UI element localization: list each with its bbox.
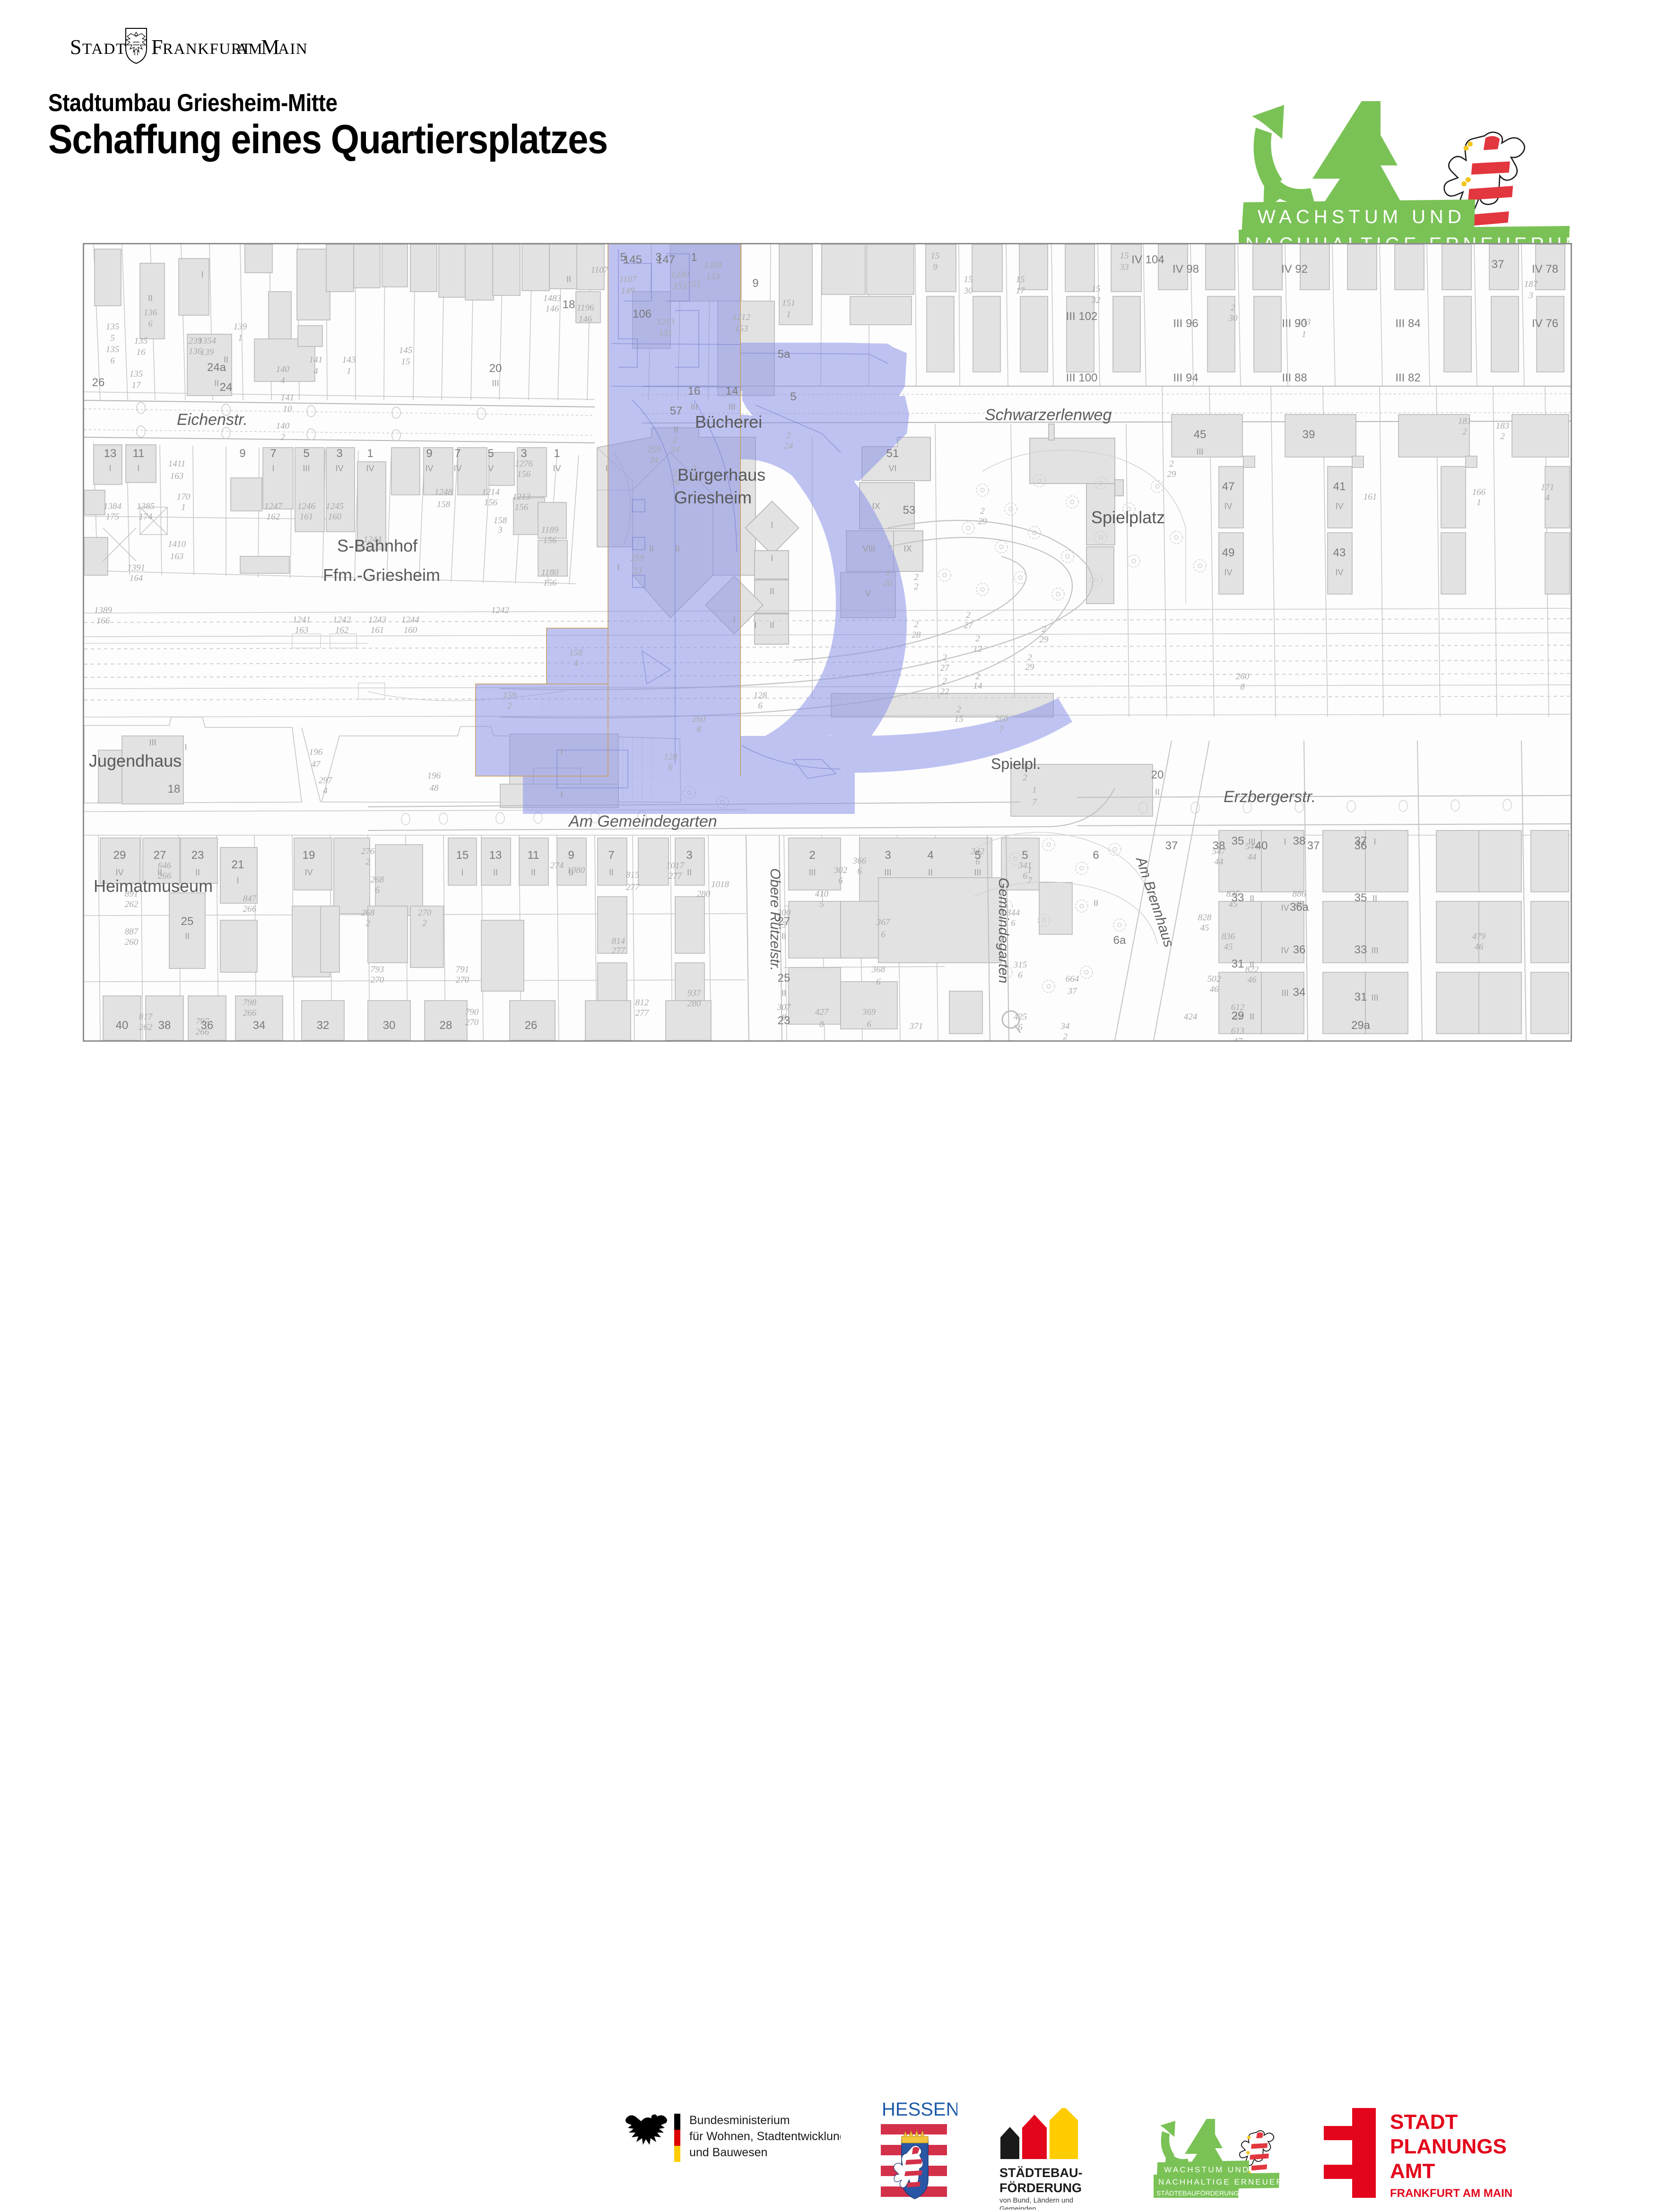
svg-text:IX: IX bbox=[872, 501, 880, 511]
map-canvas: 1366 1355 1356 13516 13517 1354139 1391 … bbox=[84, 244, 1571, 1040]
svg-text:27: 27 bbox=[964, 621, 974, 631]
svg-text:35: 35 bbox=[1355, 891, 1367, 904]
svg-text:I: I bbox=[1284, 837, 1286, 847]
svg-text:1: 1 bbox=[1027, 865, 1032, 875]
svg-text:III: III bbox=[974, 868, 981, 877]
svg-text:II: II bbox=[1155, 787, 1160, 797]
svg-text:160: 160 bbox=[404, 625, 417, 635]
svg-text:7: 7 bbox=[1027, 876, 1033, 886]
svg-text:151: 151 bbox=[687, 279, 701, 289]
svg-text:III 84: III 84 bbox=[1395, 317, 1420, 330]
svg-text:1242: 1242 bbox=[491, 605, 510, 615]
svg-text:7: 7 bbox=[454, 447, 460, 460]
svg-text:153: 153 bbox=[706, 272, 720, 282]
svg-text:266: 266 bbox=[243, 904, 257, 914]
svg-text:371: 371 bbox=[909, 1021, 923, 1031]
svg-text:II: II bbox=[157, 868, 162, 877]
svg-text:664: 664 bbox=[1066, 974, 1079, 984]
svg-text:1213: 1213 bbox=[657, 317, 675, 327]
stadtplanungsamt-line-1: STADT bbox=[1390, 2110, 1458, 2134]
poi-label-heimatmuseum: Heimatmuseum bbox=[94, 876, 213, 896]
svg-text:268: 268 bbox=[371, 875, 384, 885]
svg-text:III 94: III 94 bbox=[1173, 372, 1198, 384]
svg-text:44: 44 bbox=[1215, 857, 1224, 867]
svg-text:46: 46 bbox=[1248, 975, 1257, 985]
svg-text:32: 32 bbox=[1091, 295, 1101, 305]
svg-text:174: 174 bbox=[139, 512, 153, 522]
svg-text:479: 479 bbox=[1472, 932, 1486, 942]
svg-text:IV: IV bbox=[1224, 568, 1232, 577]
svg-text:156: 156 bbox=[543, 536, 557, 545]
svg-text:260: 260 bbox=[995, 714, 1008, 724]
svg-text:II: II bbox=[649, 544, 654, 553]
poi-label-spielpl: Spielpl. bbox=[991, 755, 1041, 772]
svg-text:17: 17 bbox=[132, 380, 142, 390]
svg-text:II: II bbox=[1094, 899, 1098, 908]
svg-text:143: 143 bbox=[342, 355, 356, 365]
svg-text:6: 6 bbox=[1023, 871, 1027, 881]
svg-text:1: 1 bbox=[1302, 329, 1306, 339]
svg-text:140: 140 bbox=[276, 421, 290, 431]
svg-text:274: 274 bbox=[550, 861, 564, 871]
stbf-sub-2: Gemeinden bbox=[999, 2205, 1036, 2210]
svg-text:II: II bbox=[770, 621, 774, 630]
svg-text:I: I bbox=[771, 520, 773, 530]
svg-text:2: 2 bbox=[942, 653, 947, 663]
svg-text:9: 9 bbox=[752, 277, 758, 290]
svg-text:136: 136 bbox=[189, 346, 202, 356]
svg-text:I: I bbox=[1373, 837, 1376, 847]
svg-text:6: 6 bbox=[668, 762, 673, 772]
svg-text:1196: 1196 bbox=[577, 303, 594, 313]
svg-text:1411: 1411 bbox=[168, 459, 186, 469]
svg-text:187: 187 bbox=[1524, 279, 1538, 289]
svg-text:49: 49 bbox=[1222, 546, 1235, 559]
svg-text:3: 3 bbox=[686, 849, 692, 862]
svg-text:128: 128 bbox=[754, 691, 767, 700]
svg-text:141: 141 bbox=[281, 393, 295, 403]
svg-text:28: 28 bbox=[440, 1019, 452, 1032]
svg-text:25: 25 bbox=[778, 972, 790, 985]
street-label-eichenstr: Eichenstr. bbox=[177, 411, 248, 429]
frankfurt-eagle-crest bbox=[126, 28, 147, 63]
svg-text:847: 847 bbox=[243, 894, 257, 904]
svg-text:III: III bbox=[303, 464, 310, 473]
svg-text:1189: 1189 bbox=[541, 525, 559, 535]
svg-text:106: 106 bbox=[633, 308, 651, 320]
svg-text:270: 270 bbox=[456, 975, 469, 985]
svg-text:2: 2 bbox=[975, 634, 980, 644]
svg-text:3: 3 bbox=[655, 251, 661, 264]
svg-text:158: 158 bbox=[569, 648, 583, 658]
svg-text:5: 5 bbox=[819, 899, 824, 909]
svg-text:196: 196 bbox=[427, 771, 441, 781]
svg-text:31: 31 bbox=[1355, 991, 1367, 1003]
svg-text:6: 6 bbox=[876, 977, 881, 987]
svg-text:37: 37 bbox=[1492, 258, 1504, 271]
svg-text:II: II bbox=[195, 868, 200, 877]
svg-text:III 102: III 102 bbox=[1066, 310, 1098, 323]
svg-text:2: 2 bbox=[914, 582, 919, 592]
svg-text:1230: 1230 bbox=[671, 270, 689, 280]
svg-text:III: III bbox=[728, 402, 735, 412]
svg-text:2: 2 bbox=[956, 705, 961, 715]
page-header: S TADT F RANKFURT AM M AIN Stadtumbau Gr… bbox=[0, 0, 1659, 217]
svg-text:135: 135 bbox=[106, 322, 120, 332]
svg-text:47: 47 bbox=[1222, 480, 1235, 493]
stbf-line-1: STÄDTEBAU- bbox=[999, 2166, 1083, 2180]
svg-text:307: 307 bbox=[777, 1002, 791, 1012]
svg-text:1: 1 bbox=[238, 333, 243, 343]
bmwsb-line-2: für Wohnen, Stadtentwicklung bbox=[689, 2130, 841, 2143]
svg-text:33: 33 bbox=[1120, 262, 1129, 272]
svg-text:15: 15 bbox=[931, 251, 940, 261]
svg-text:146: 146 bbox=[579, 314, 592, 324]
svg-text:IV: IV bbox=[1281, 946, 1289, 955]
svg-text:7: 7 bbox=[608, 849, 614, 862]
svg-text:4: 4 bbox=[927, 849, 933, 862]
svg-text:40: 40 bbox=[1255, 839, 1268, 852]
svg-text:I: I bbox=[771, 553, 773, 563]
svg-text:2: 2 bbox=[1231, 303, 1235, 313]
svg-text:II: II bbox=[569, 868, 573, 877]
svg-text:8: 8 bbox=[819, 1020, 824, 1029]
svg-text:II: II bbox=[1250, 894, 1254, 903]
svg-text:III: III bbox=[1281, 988, 1288, 998]
svg-text:5a: 5a bbox=[778, 348, 790, 361]
hessen-state-logo: HESSEN bbox=[872, 2100, 957, 2208]
svg-text:IV: IV bbox=[366, 464, 374, 473]
svg-text:425: 425 bbox=[1014, 1012, 1027, 1022]
svg-text:5: 5 bbox=[974, 849, 981, 862]
svg-text:2: 2 bbox=[914, 572, 919, 582]
svg-text:2: 2 bbox=[673, 468, 677, 478]
svg-text:11: 11 bbox=[528, 849, 539, 862]
bmwsb-line-3: und Bauwesen bbox=[689, 2146, 767, 2159]
svg-text:5: 5 bbox=[790, 390, 796, 403]
svg-text:2: 2 bbox=[1023, 773, 1027, 783]
svg-text:39: 39 bbox=[1303, 428, 1315, 441]
svg-text:1018: 1018 bbox=[711, 880, 730, 890]
svg-text:16: 16 bbox=[137, 347, 146, 357]
svg-text:128: 128 bbox=[664, 752, 677, 762]
svg-text:836: 836 bbox=[1222, 932, 1235, 942]
svg-text:145: 145 bbox=[399, 346, 413, 355]
svg-text:51: 51 bbox=[886, 447, 899, 460]
svg-text:III 100: III 100 bbox=[1066, 372, 1098, 384]
svg-text:II: II bbox=[185, 932, 190, 941]
svg-text:IV: IV bbox=[1335, 568, 1343, 577]
svg-text:149: 149 bbox=[621, 286, 635, 296]
svg-text:III: III bbox=[1248, 837, 1255, 847]
svg-text:4: 4 bbox=[313, 366, 318, 376]
svg-text:2: 2 bbox=[1500, 432, 1505, 441]
poi-label-ffm-griesheim: Ffm.-Griesheim bbox=[323, 565, 440, 585]
svg-text:16: 16 bbox=[688, 385, 701, 397]
svg-text:181: 181 bbox=[1458, 416, 1472, 426]
svg-text:4: 4 bbox=[1545, 493, 1550, 503]
svg-text:F: F bbox=[151, 35, 163, 59]
svg-text:156: 156 bbox=[515, 502, 529, 512]
svg-text:VIII: VIII bbox=[862, 544, 875, 553]
svg-text:AIN: AIN bbox=[278, 41, 308, 58]
svg-text:2: 2 bbox=[942, 676, 947, 686]
svg-text:III 96: III 96 bbox=[1173, 317, 1198, 330]
stadtplanungsamt-mark bbox=[1324, 2108, 1376, 2198]
svg-text:33: 33 bbox=[1355, 943, 1367, 956]
svg-text:I: I bbox=[617, 563, 619, 572]
svg-text:1242: 1242 bbox=[333, 615, 351, 625]
svg-text:5: 5 bbox=[110, 333, 115, 343]
svg-text:259: 259 bbox=[631, 553, 644, 563]
street-label-am-gemeindegarten: Am Gemeindegarten bbox=[568, 812, 717, 830]
svg-text:TADT: TADT bbox=[82, 41, 126, 58]
svg-text:2: 2 bbox=[886, 568, 890, 578]
svg-text:41: 41 bbox=[1333, 480, 1346, 493]
svg-text:18: 18 bbox=[563, 298, 575, 311]
svg-text:270: 270 bbox=[371, 975, 384, 985]
svg-text:270: 270 bbox=[465, 1018, 479, 1028]
svg-text:26: 26 bbox=[525, 1019, 538, 1032]
svg-text:6: 6 bbox=[867, 1020, 871, 1029]
svg-text:IV 98: IV 98 bbox=[1173, 263, 1199, 276]
svg-text:43: 43 bbox=[1333, 546, 1346, 559]
svg-text:886: 886 bbox=[1293, 889, 1306, 899]
svg-text:5: 5 bbox=[620, 251, 626, 264]
svg-text:1017: 1017 bbox=[666, 861, 685, 871]
svg-text:III 82: III 82 bbox=[1395, 372, 1420, 384]
svg-text:II: II bbox=[1250, 960, 1254, 969]
svg-text:36a: 36a bbox=[1290, 901, 1309, 914]
svg-text:2: 2 bbox=[980, 506, 985, 516]
svg-text:302: 302 bbox=[834, 865, 848, 875]
svg-text:139: 139 bbox=[234, 322, 247, 332]
svg-text:27: 27 bbox=[940, 663, 950, 673]
poi-label-buergerhaus: Bürgerhaus bbox=[677, 465, 765, 484]
svg-text:613: 613 bbox=[1231, 1026, 1245, 1036]
project-subtitle: Stadtumbau Griesheim-Mitte bbox=[48, 89, 337, 117]
svg-text:156: 156 bbox=[484, 498, 498, 508]
svg-text:IV: IV bbox=[1281, 903, 1289, 913]
svg-text:175: 175 bbox=[106, 512, 120, 522]
svg-text:26: 26 bbox=[92, 376, 105, 389]
svg-text:IV: IV bbox=[553, 464, 561, 473]
svg-text:5: 5 bbox=[487, 447, 494, 460]
svg-text:1248: 1248 bbox=[434, 487, 453, 497]
svg-text:2: 2 bbox=[507, 701, 512, 711]
svg-text:III: III bbox=[1196, 447, 1203, 457]
hessen-label: HESSEN bbox=[882, 2100, 957, 2120]
svg-text:11: 11 bbox=[133, 447, 145, 460]
svg-text:V: V bbox=[865, 589, 871, 598]
svg-text:V: V bbox=[488, 464, 494, 473]
svg-text:151: 151 bbox=[782, 298, 796, 308]
svg-text:36: 36 bbox=[1293, 943, 1306, 956]
svg-text:135: 135 bbox=[130, 369, 143, 379]
svg-text:IV: IV bbox=[1224, 501, 1232, 511]
svg-text:1107: 1107 bbox=[619, 275, 637, 285]
svg-text:17: 17 bbox=[1016, 286, 1026, 296]
svg-text:III: III bbox=[1371, 993, 1378, 1002]
svg-text:36: 36 bbox=[1355, 839, 1367, 852]
poi-label-griesheim: Griesheim bbox=[674, 488, 752, 507]
svg-text:23: 23 bbox=[191, 849, 204, 862]
stadtplanungsamt-line-3: AMT bbox=[1390, 2160, 1435, 2183]
stadtplanungsamt-line-2: PLANUNGS bbox=[1390, 2135, 1507, 2158]
svg-text:32: 32 bbox=[317, 1019, 330, 1032]
svg-text:8: 8 bbox=[1240, 682, 1245, 692]
svg-text:I: I bbox=[733, 615, 735, 624]
svg-text:2: 2 bbox=[673, 435, 677, 445]
svg-text:38: 38 bbox=[1293, 835, 1306, 847]
svg-text:25: 25 bbox=[181, 915, 194, 928]
svg-text:II: II bbox=[687, 868, 692, 877]
svg-text:29: 29 bbox=[1025, 662, 1035, 672]
svg-text:23: 23 bbox=[778, 1014, 790, 1027]
svg-text:9: 9 bbox=[568, 849, 574, 862]
svg-text:3: 3 bbox=[521, 447, 527, 460]
svg-text:139: 139 bbox=[200, 347, 214, 357]
svg-text:AM: AM bbox=[236, 41, 263, 58]
svg-text:424: 424 bbox=[1184, 1012, 1198, 1022]
svg-text:45: 45 bbox=[1224, 942, 1233, 952]
svg-text:38: 38 bbox=[1213, 839, 1225, 852]
stadt-frankfurt-am-main-logo: S TADT F RANKFURT AM M AIN bbox=[70, 25, 373, 65]
svg-text:1391: 1391 bbox=[127, 563, 145, 573]
svg-text:I: I bbox=[272, 464, 274, 473]
svg-text:1247: 1247 bbox=[264, 501, 283, 511]
svg-text:45: 45 bbox=[1200, 923, 1209, 933]
svg-text:171: 171 bbox=[1541, 483, 1555, 493]
svg-text:798: 798 bbox=[243, 998, 257, 1008]
svg-text:14: 14 bbox=[726, 385, 738, 397]
svg-text:260: 260 bbox=[692, 714, 706, 724]
svg-text:7: 7 bbox=[1032, 797, 1037, 807]
svg-text:2: 2 bbox=[1063, 1032, 1068, 1040]
street-label-schwarzerlenweg: Schwarzerlenweg bbox=[985, 406, 1112, 424]
svg-text:1245: 1245 bbox=[326, 501, 344, 511]
svg-text:S: S bbox=[70, 35, 82, 59]
svg-text:158: 158 bbox=[494, 516, 507, 526]
svg-text:47: 47 bbox=[312, 760, 321, 769]
svg-text:151: 151 bbox=[659, 328, 673, 338]
svg-text:140: 140 bbox=[276, 364, 290, 374]
svg-text:44: 44 bbox=[1248, 852, 1257, 862]
svg-text:II: II bbox=[675, 544, 680, 553]
svg-text:277: 277 bbox=[669, 871, 683, 881]
svg-text:34: 34 bbox=[1060, 1021, 1070, 1031]
svg-text:1: 1 bbox=[367, 447, 373, 460]
bmwsb-logo: Bundesministerium für Wohnen, Stadtentwi… bbox=[623, 2107, 841, 2169]
svg-text:57: 57 bbox=[670, 405, 683, 417]
svg-text:VI: VI bbox=[888, 464, 896, 473]
recycle-arrow-icon-small bbox=[1160, 2121, 1190, 2169]
svg-text:III: III bbox=[808, 868, 816, 877]
svg-text:6a: 6a bbox=[1113, 934, 1126, 947]
svg-text:4: 4 bbox=[323, 786, 328, 796]
svg-text:280: 280 bbox=[697, 889, 711, 899]
svg-text:II: II bbox=[214, 379, 219, 388]
program-small-line-2: NACHHALTIGE ERNEUERUNG bbox=[1158, 2177, 1286, 2186]
svg-text:6: 6 bbox=[110, 356, 115, 366]
stadtplanungsamt-logo: STADT PLANUNGS AMT FRANKFURT AM MAIN bbox=[1324, 2108, 1527, 2203]
svg-text:4: 4 bbox=[573, 658, 578, 668]
svg-text:277: 277 bbox=[612, 946, 626, 956]
svg-text:297: 297 bbox=[319, 776, 333, 786]
svg-text:31: 31 bbox=[1232, 958, 1244, 970]
svg-text:III: III bbox=[690, 402, 697, 412]
svg-text:8: 8 bbox=[696, 725, 701, 734]
svg-text:15: 15 bbox=[955, 714, 964, 724]
svg-text:6: 6 bbox=[758, 701, 763, 711]
svg-text:21: 21 bbox=[232, 858, 244, 871]
svg-text:II: II bbox=[770, 587, 774, 596]
svg-text:2: 2 bbox=[1462, 427, 1467, 437]
svg-text:15: 15 bbox=[1092, 284, 1101, 294]
svg-text:159: 159 bbox=[503, 691, 517, 700]
svg-text:3: 3 bbox=[497, 525, 503, 535]
svg-text:5: 5 bbox=[1022, 849, 1028, 862]
svg-text:1212: 1212 bbox=[732, 312, 751, 322]
svg-text:9: 9 bbox=[426, 447, 432, 460]
svg-text:40: 40 bbox=[116, 1019, 129, 1032]
svg-text:1276: 1276 bbox=[515, 459, 533, 469]
svg-text:1243: 1243 bbox=[368, 615, 386, 625]
svg-text:29: 29 bbox=[1040, 635, 1049, 645]
svg-text:38: 38 bbox=[158, 1019, 171, 1032]
svg-text:15: 15 bbox=[1120, 251, 1129, 261]
svg-text:791: 791 bbox=[456, 965, 469, 975]
svg-text:19: 19 bbox=[303, 849, 315, 862]
svg-text:2: 2 bbox=[1169, 459, 1174, 469]
svg-text:33: 33 bbox=[1232, 891, 1244, 904]
svg-text:I: I bbox=[754, 621, 756, 630]
svg-text:162: 162 bbox=[267, 512, 280, 522]
bmwsb-line-1: Bundesministerium bbox=[689, 2114, 790, 2127]
svg-text:7: 7 bbox=[999, 725, 1004, 734]
svg-text:34: 34 bbox=[1293, 986, 1306, 999]
svg-text:502: 502 bbox=[1207, 974, 1221, 984]
svg-text:53: 53 bbox=[903, 504, 916, 517]
poi-label-jugendhaus: Jugendhaus bbox=[89, 751, 182, 770]
svg-text:24: 24 bbox=[220, 381, 233, 394]
svg-text:9: 9 bbox=[239, 447, 245, 460]
svg-text:I: I bbox=[201, 270, 203, 279]
svg-text:24: 24 bbox=[671, 445, 680, 455]
svg-text:20: 20 bbox=[1151, 769, 1164, 781]
svg-text:262: 262 bbox=[139, 1022, 153, 1032]
svg-text:1214: 1214 bbox=[482, 487, 500, 497]
svg-text:2: 2 bbox=[809, 849, 815, 862]
cadastral-map[interactable]: 1366 1355 1356 13516 13517 1354139 1391 … bbox=[83, 243, 1572, 1042]
svg-text:II: II bbox=[224, 355, 228, 364]
svg-text:6: 6 bbox=[375, 885, 380, 895]
svg-text:6: 6 bbox=[1018, 970, 1023, 980]
svg-text:276: 276 bbox=[361, 847, 375, 856]
svg-text:47: 47 bbox=[1233, 1037, 1243, 1040]
svg-text:1389: 1389 bbox=[94, 605, 113, 615]
svg-text:2: 2 bbox=[975, 672, 980, 682]
svg-text:163: 163 bbox=[170, 471, 184, 481]
page-title: Schaffung eines Quartiersplatzes bbox=[48, 116, 608, 163]
svg-text:37: 37 bbox=[1165, 839, 1178, 852]
svg-text:36: 36 bbox=[201, 1019, 214, 1032]
svg-text:II: II bbox=[928, 868, 933, 877]
svg-text:35: 35 bbox=[1232, 835, 1244, 847]
svg-text:277: 277 bbox=[635, 1008, 650, 1018]
svg-text:368: 368 bbox=[871, 965, 886, 975]
svg-text:156: 156 bbox=[517, 469, 531, 479]
